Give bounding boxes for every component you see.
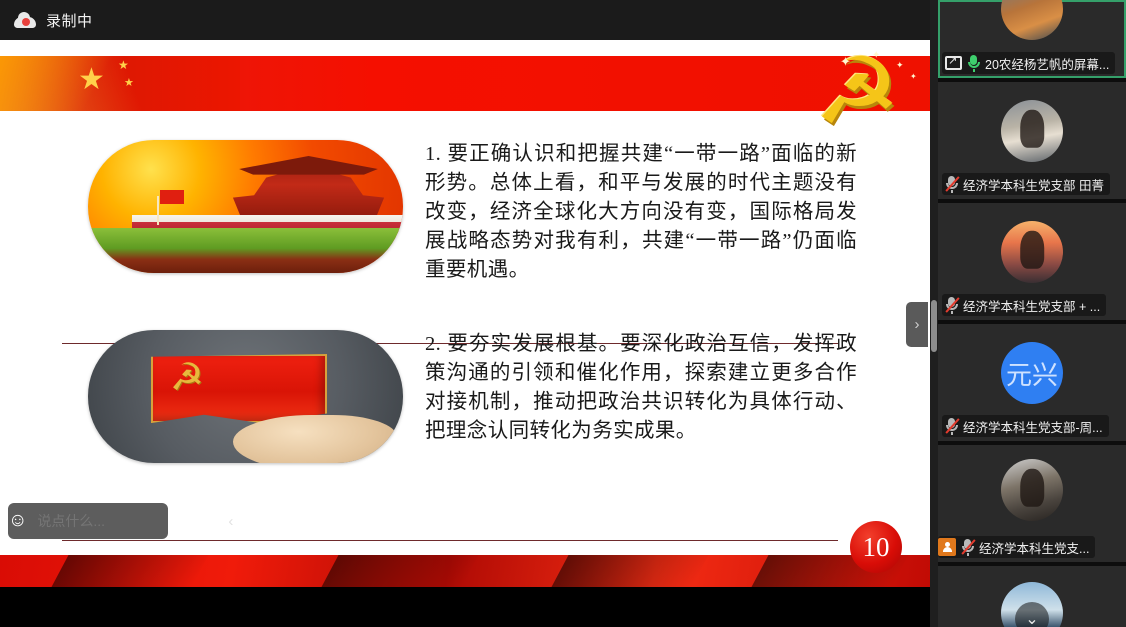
hammer-and-sickle-emblem: ☭ ✦ ✦ ✦ ✦ xyxy=(810,52,930,152)
avatar xyxy=(1001,100,1063,162)
avatar xyxy=(1001,0,1063,40)
mic-off-icon xyxy=(945,297,958,314)
participant-namebar: 经济学本科生党支部 田菁 xyxy=(942,173,1110,195)
participant-tile[interactable]: 经济学本科生党支... xyxy=(938,445,1126,562)
stage-scrollbar-thumb[interactable] xyxy=(931,300,937,352)
host-badge-icon xyxy=(938,538,956,556)
participant-tile[interactable]: ⌄ xyxy=(938,566,1126,627)
screen-share-icon xyxy=(945,56,962,70)
participant-name: 20农经杨艺帆的屏幕... xyxy=(985,54,1109,73)
slide-paragraph-1: 1. 要正确认识和把握共建“一带一路”面临的新形势。总体上看，和平与发展的时代主… xyxy=(425,140,857,285)
participant-name: 经济学本科生党支部-周... xyxy=(963,417,1103,436)
avatar-initials: 元兴 xyxy=(1006,355,1058,392)
slide-item-1: 1. 要正确认识和把握共建“一带一路”面临的新形势。总体上看，和平与发展的时代主… xyxy=(0,140,934,285)
slide-paragraph-2: 2. 要夯实发展根基。要深化政治互信，发挥政策沟通的引领和催化作用，探索建立更多… xyxy=(425,330,857,446)
party-flag-pin-photo: ☭ xyxy=(88,330,403,463)
tiananmen-sunset-photo xyxy=(88,140,403,273)
mic-off-icon xyxy=(945,418,958,435)
star-icon-small-1: ★ xyxy=(118,58,129,72)
smiley-icon[interactable]: ☺ xyxy=(8,510,27,532)
avatar xyxy=(1001,221,1063,283)
star-icon-large: ★ xyxy=(78,62,105,97)
slide-footer-ribbon xyxy=(0,555,934,587)
shared-screen-stage: 录制中 ★ ★ ★ ☭ ✦ ✦ ✦ ✦ xyxy=(0,0,934,627)
chevron-left-icon[interactable]: ‹ xyxy=(228,513,233,530)
participant-namebar: 经济学本科生党支... xyxy=(938,536,1095,558)
mic-off-icon xyxy=(945,176,958,193)
recording-label: 录制中 xyxy=(46,10,93,31)
slide-page-number-badge: 10 xyxy=(850,521,902,573)
participant-sidebar: 20农经杨艺帆的屏幕... 经济学本科生党支部 田菁 xyxy=(938,0,1126,627)
mic-on-icon xyxy=(967,55,980,72)
cloud-recording-icon xyxy=(14,12,36,28)
participant-tile[interactable]: 经济学本科生党支部 + ... xyxy=(938,203,1126,320)
participant-name: 经济学本科生党支部 + ... xyxy=(963,296,1100,315)
star-icon-small-2: ★ xyxy=(124,76,134,89)
participant-namebar: 经济学本科生党支部-周... xyxy=(942,415,1109,437)
avatar xyxy=(1001,459,1063,521)
chat-input-bar[interactable]: ☺ ‹ xyxy=(8,503,168,539)
slide-top-banner: ★ ★ ★ ☭ ✦ ✦ ✦ ✦ xyxy=(0,56,934,111)
slide-divider-2 xyxy=(62,540,838,541)
participant-tile[interactable]: 20农经杨艺帆的屏幕... xyxy=(938,0,1126,78)
participant-name: 经济学本科生党支部 田菁 xyxy=(963,175,1104,194)
participant-name: 经济学本科生党支... xyxy=(979,538,1089,557)
recording-status-bar: 录制中 xyxy=(0,0,934,40)
zoom-meeting-window: 录制中 ★ ★ ★ ☭ ✦ ✦ ✦ ✦ xyxy=(0,0,1126,627)
mic-off-icon xyxy=(961,539,974,556)
chevron-right-icon[interactable]: › xyxy=(906,302,928,347)
avatar: 元兴 xyxy=(1001,342,1063,404)
participant-tile[interactable]: 经济学本科生党支部 田菁 xyxy=(938,82,1126,199)
slide-item-2: ☭ 2. 要夯实发展根基。要深化政治互信，发挥政策沟通的引领和催化作用，探索建立… xyxy=(0,330,934,463)
chat-input[interactable] xyxy=(27,513,228,529)
participant-tile[interactable]: 元兴 经济学本科生党支部-周... xyxy=(938,324,1126,441)
participant-namebar: 20农经杨艺帆的屏幕... xyxy=(942,52,1115,74)
participant-namebar: 经济学本科生党支部 + ... xyxy=(942,294,1106,316)
